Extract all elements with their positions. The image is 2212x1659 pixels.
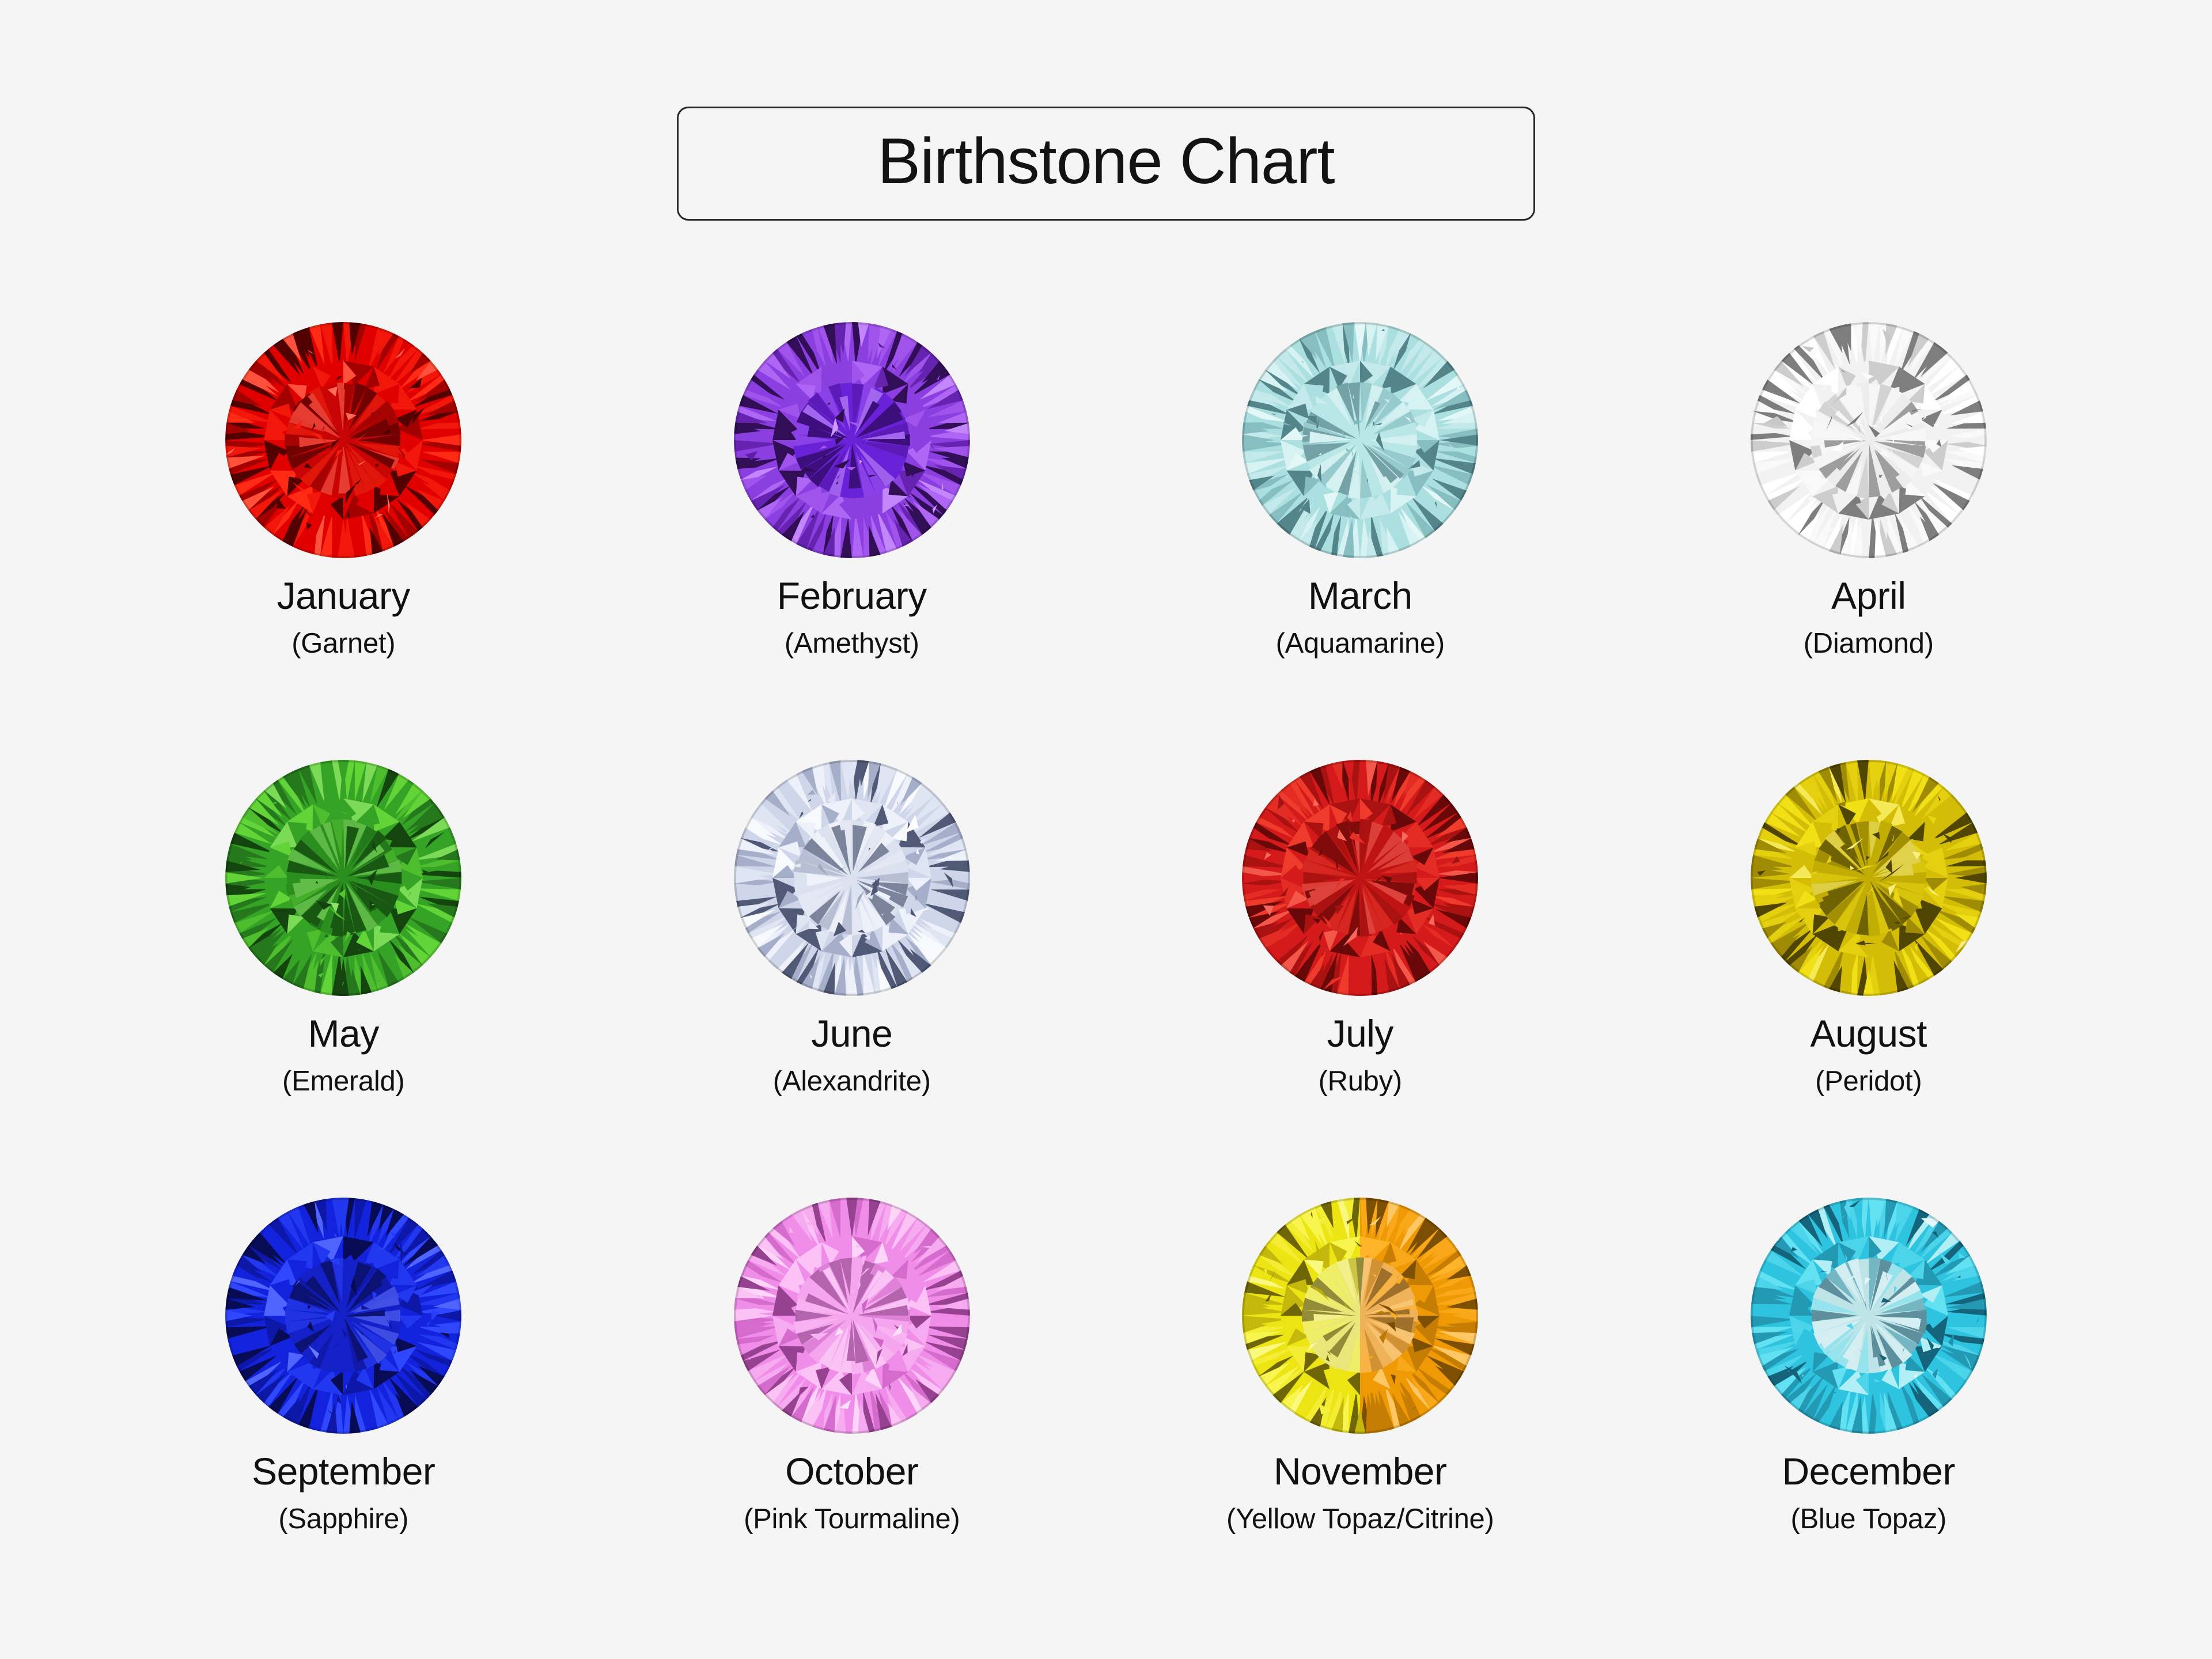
month-label: December	[1782, 1452, 1955, 1490]
round-brilliant-gem-icon	[223, 320, 464, 560]
stone-label: (Sapphire)	[278, 1505, 408, 1533]
round-brilliant-gem-icon	[1748, 1195, 1989, 1436]
birthstone-cell[interactable]: November(Yellow Topaz/Citrine)	[1106, 1195, 1615, 1633]
birthstone-cell[interactable]: September(Sapphire)	[89, 1195, 598, 1633]
birthstone-cell[interactable]: October(Pink Tourmaline)	[598, 1195, 1107, 1633]
stone-label: (Ruby)	[1319, 1067, 1402, 1096]
birthstone-cell[interactable]: June(Alexandrite)	[598, 757, 1107, 1195]
birthstone-cell[interactable]: March(Aquamarine)	[1106, 320, 1615, 757]
stone-label: (Blue Topaz)	[1790, 1505, 1946, 1533]
title-box: Birthstone Chart	[677, 107, 1535, 221]
birthstone-grid: January(Garnet)February(Amethyst)March(A…	[89, 320, 2123, 1633]
round-brilliant-gem-icon	[1240, 320, 1480, 560]
round-brilliant-gem-icon-split	[1240, 1195, 1480, 1436]
month-label: May	[308, 1014, 379, 1052]
month-label: March	[1308, 577, 1412, 615]
birthstone-cell[interactable]: February(Amethyst)	[598, 320, 1107, 757]
stone-label: (Diamond)	[1804, 630, 1934, 658]
round-brilliant-gem-icon	[1748, 757, 1989, 998]
birthstone-cell[interactable]: January(Garnet)	[89, 320, 598, 757]
title-container: Birthstone Chart	[0, 107, 2212, 221]
stone-label: (Pink Tourmaline)	[744, 1505, 960, 1533]
birthstone-cell[interactable]: August(Peridot)	[1615, 757, 2123, 1195]
birthstone-cell[interactable]: April(Diamond)	[1615, 320, 2123, 757]
month-label: January	[277, 577, 410, 615]
birthstone-cell[interactable]: May(Emerald)	[89, 757, 598, 1195]
month-label: August	[1810, 1014, 1927, 1052]
round-brilliant-gem-icon	[1748, 320, 1989, 560]
month-label: June	[811, 1014, 892, 1052]
birthstone-chart-page: Birthstone Chart January(Garnet)February…	[0, 0, 2212, 1659]
stone-label: (Aquamarine)	[1276, 630, 1445, 658]
round-brilliant-gem-icon	[732, 320, 972, 560]
birthstone-cell[interactable]: July(Ruby)	[1106, 757, 1615, 1195]
month-label: September	[252, 1452, 435, 1490]
round-brilliant-gem-icon	[223, 757, 464, 998]
stone-label: (Alexandrite)	[773, 1067, 931, 1096]
stone-label: (Yellow Topaz/Citrine)	[1226, 1505, 1494, 1533]
month-label: February	[777, 577, 927, 615]
stone-label: (Amethyst)	[785, 630, 919, 658]
month-label: October	[785, 1452, 918, 1490]
month-label: April	[1831, 577, 1906, 615]
round-brilliant-gem-icon	[223, 1195, 464, 1436]
round-brilliant-gem-icon	[732, 757, 972, 998]
month-label: July	[1327, 1014, 1393, 1052]
stone-label: (Garnet)	[291, 630, 395, 658]
round-brilliant-gem-icon	[1240, 757, 1480, 998]
birthstone-cell[interactable]: December(Blue Topaz)	[1615, 1195, 2123, 1633]
month-label: November	[1274, 1452, 1446, 1490]
round-brilliant-gem-icon	[732, 1195, 972, 1436]
stone-label: (Peridot)	[1815, 1067, 1922, 1096]
stone-label: (Emerald)	[282, 1067, 404, 1096]
page-title: Birthstone Chart	[748, 129, 1464, 194]
